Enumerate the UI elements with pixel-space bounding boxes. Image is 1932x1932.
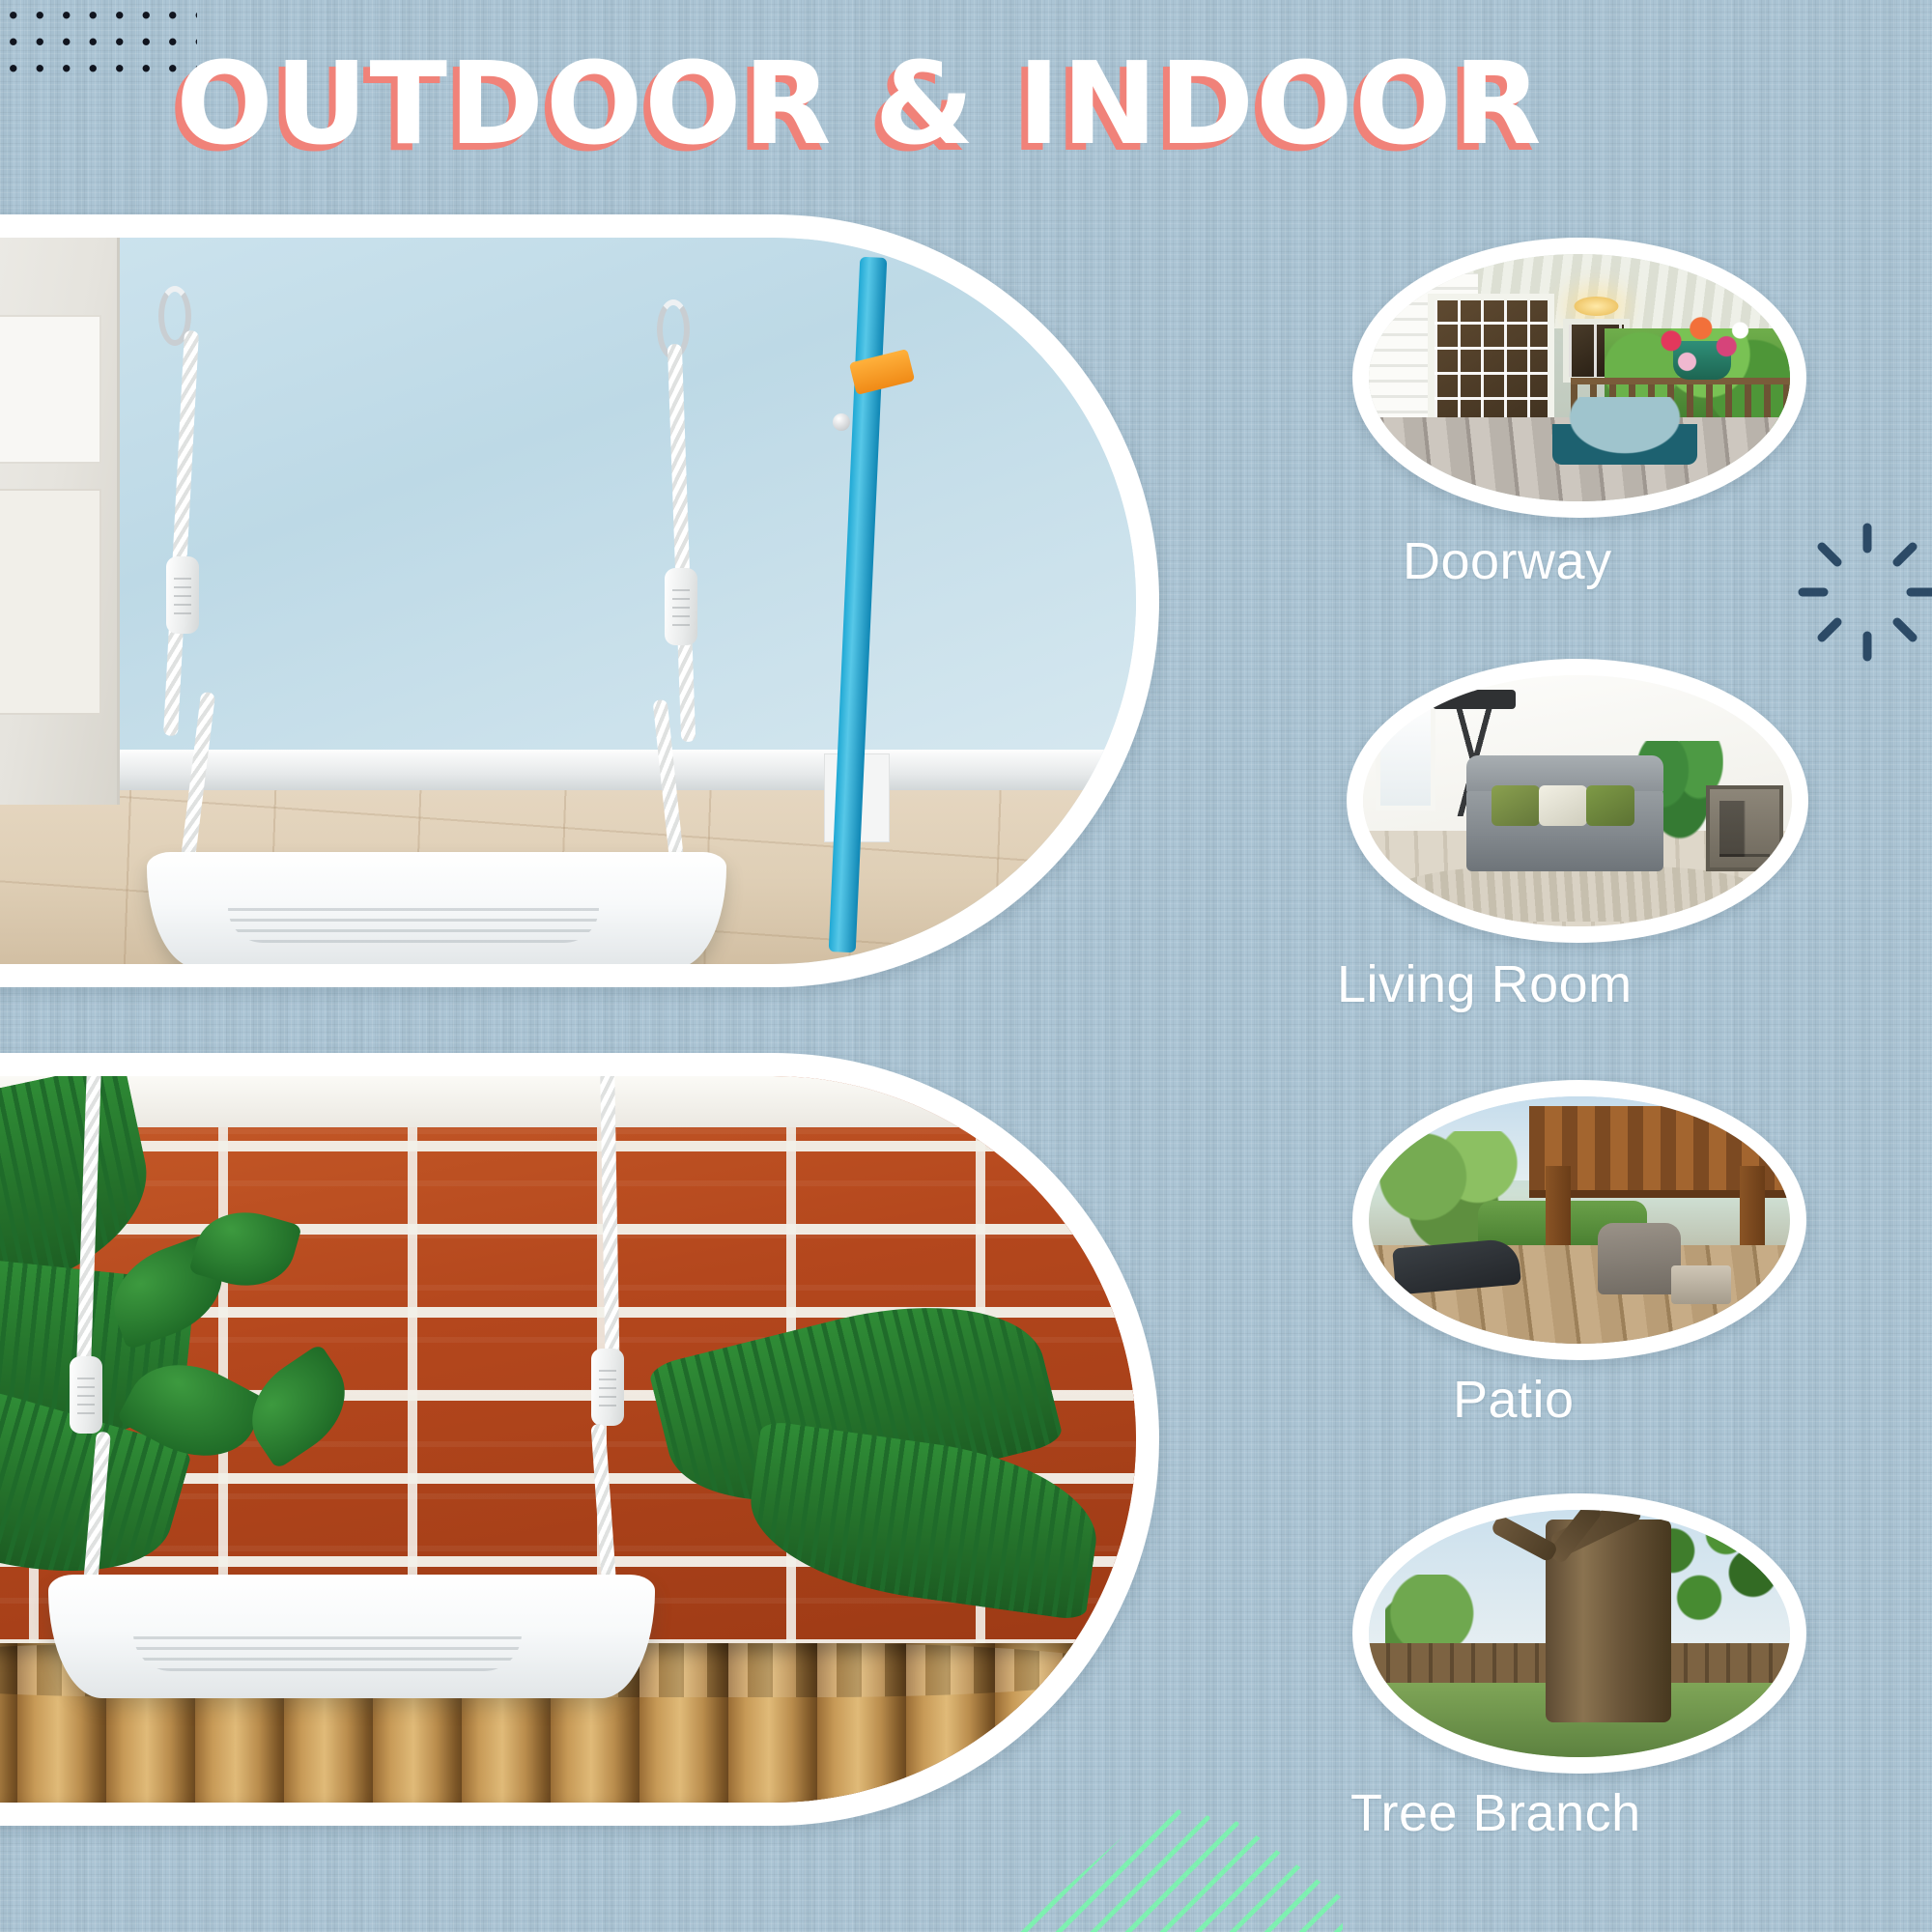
hatch-line [995,1806,1150,1932]
hatch-line [1157,1853,1343,1932]
swing-seat [147,852,726,964]
swing-seat [48,1575,655,1698]
thumbnail-living-room[interactable]: Living Room [1347,659,1808,943]
area-rug [1389,867,1767,922]
room-skirting-board [0,750,1136,789]
thumbnail-doorway[interactable]: Doorway [1352,238,1806,518]
wall-cap [0,1076,1136,1134]
outdoor-swing-photo [0,1053,1159,1826]
thumbnail-label-doorway: Doorway [1403,531,1612,591]
frame-bolt [833,413,850,431]
thumbnail-label-patio: Patio [1453,1370,1575,1430]
doorway-photo [1369,254,1790,501]
living-room-window [1376,691,1435,811]
thumbnail-tree-branch[interactable]: Tree Branch [1352,1493,1806,1774]
product-infographic-canvas: OUTDOOR & INDOOR [0,0,1932,1932]
outdoor-scene [0,1076,1136,1803]
rope-adjuster-bead [591,1349,624,1426]
page-title: OUTDOOR & INDOOR [0,46,1719,160]
shelving-unit [1706,785,1783,870]
sofa-pillow [1539,785,1587,826]
burst-dash [1897,547,1913,562]
sofa-pillow [1492,785,1540,826]
living-room-photo [1363,675,1792,926]
burst-dash [1822,547,1837,562]
flower-basket [1650,313,1756,383]
radial-dash-burst [1795,520,1932,665]
rope-adjuster-bead [665,568,697,645]
hatch-line [995,1783,1034,1932]
hatch-line [995,1801,1121,1932]
hatch-line [995,1782,1005,1932]
tree-branch-photo [1369,1510,1790,1757]
hatch-line [1082,1835,1294,1932]
room-cabinet [0,238,120,805]
sofa-pillow [1586,785,1634,826]
thumbnail-label-living-room: Living Room [1337,954,1633,1014]
rope-adjuster-bead [70,1356,102,1434]
thumbnail-patio[interactable]: Patio [1352,1080,1806,1360]
indoor-scene [0,238,1136,964]
ceiling-lamp [1574,297,1618,316]
thumbnail-label-tree-branch: Tree Branch [1350,1783,1641,1843]
patio-photo [1369,1096,1790,1344]
rope-adjuster-bead [166,556,199,634]
burst-dash [1822,622,1837,638]
hatch-line [995,1789,1063,1932]
diagonal-hatch-block [995,1782,1343,1932]
hatch-line [1057,1830,1265,1932]
patio-armchair [1598,1223,1681,1294]
side-table [1671,1265,1731,1304]
indoor-swing-photo [0,214,1159,987]
patio-furniture [1552,397,1697,465]
burst-dash [1897,622,1913,638]
hatch-line [1032,1824,1236,1932]
